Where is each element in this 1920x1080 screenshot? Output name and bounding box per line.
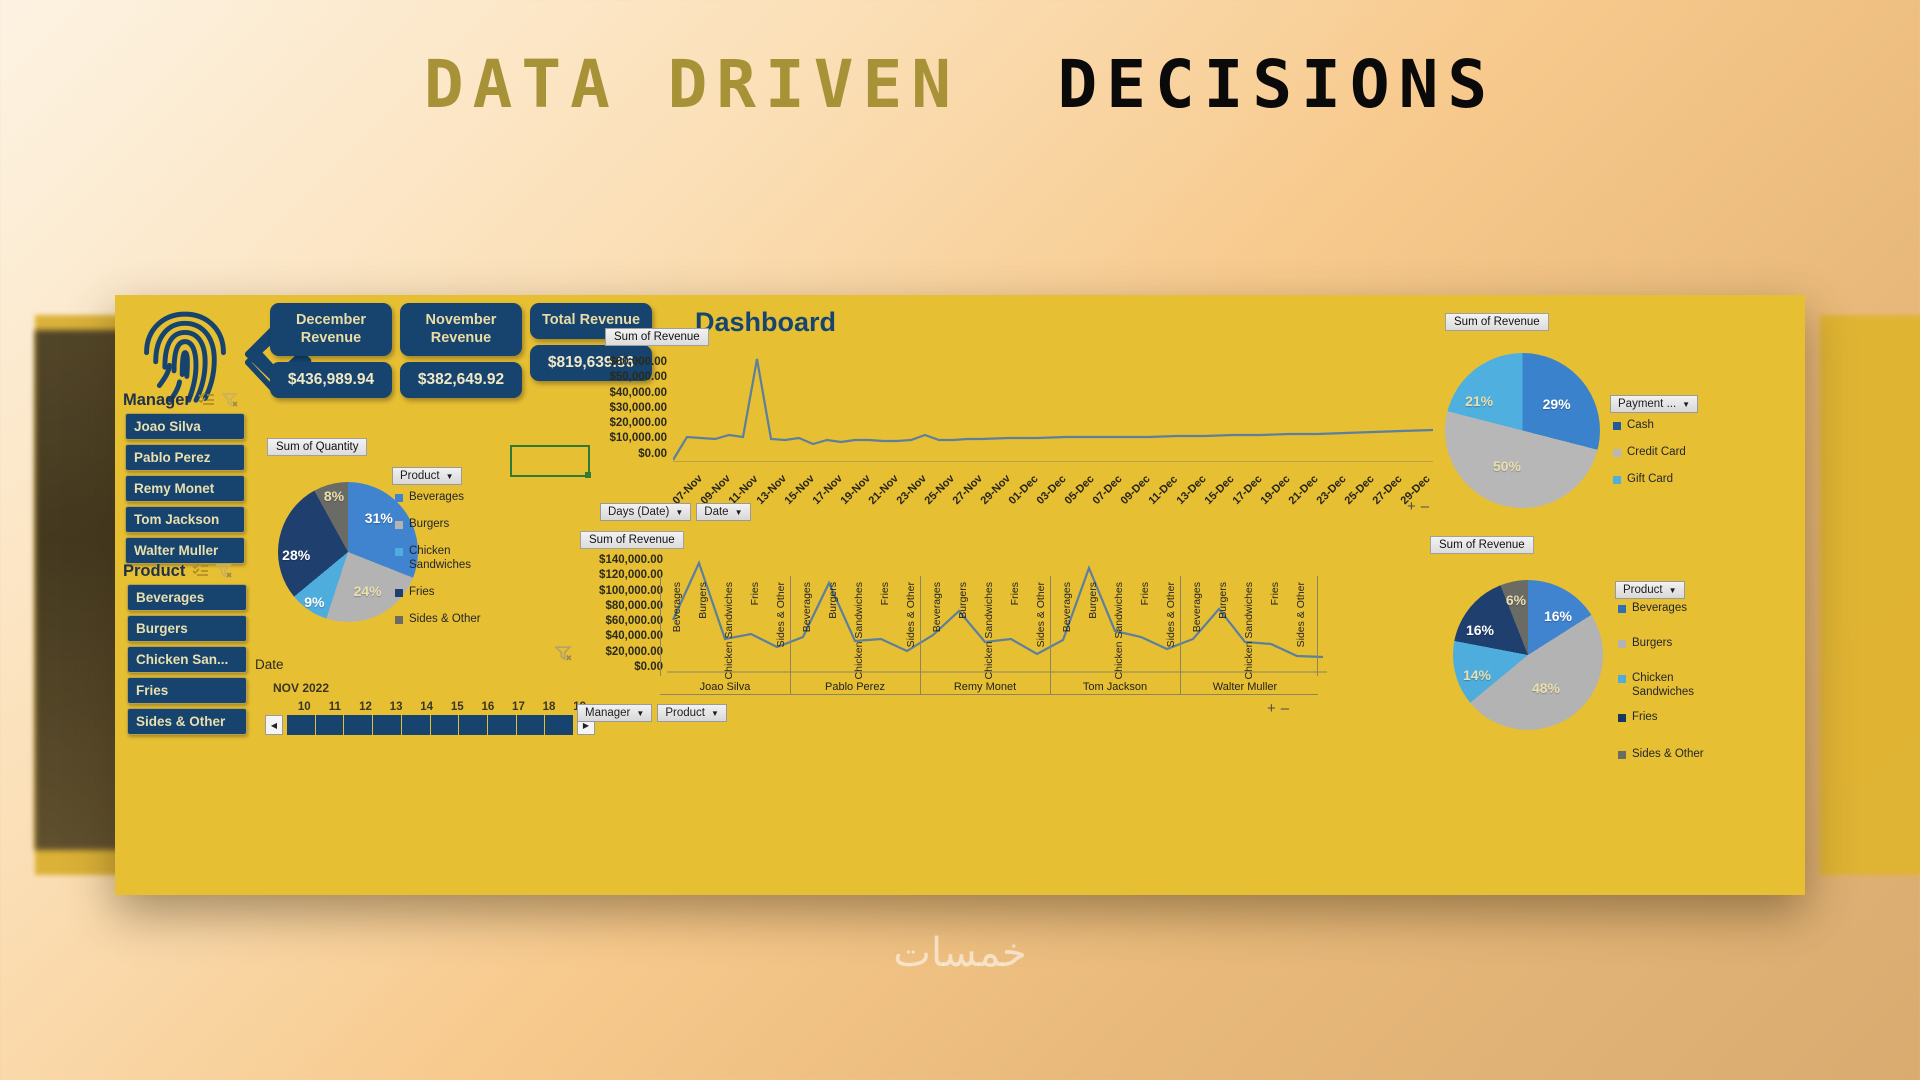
field-button-days-date[interactable]: Days (Date) ▼ [600, 503, 691, 521]
pie-slice-label: 31% [365, 510, 393, 526]
legend-label: Chicken Sandwiches [409, 545, 515, 571]
group-label: Remy Monet [920, 681, 1050, 693]
x-tick: 15-Dec [1203, 473, 1237, 507]
category-label: Fries [749, 582, 761, 605]
x-tick: 17-Nov [811, 473, 845, 507]
category-label: Fries [1009, 582, 1021, 605]
x-tick: 11-Dec [1147, 473, 1181, 507]
slicer-title-label: Manager [123, 391, 191, 410]
pie-slice-label: 14% [1463, 667, 1491, 683]
slicer-item-remy-monet[interactable]: Remy Monet [125, 475, 245, 502]
legend-label: Credit Card [1627, 446, 1686, 459]
timeline-bar[interactable] [488, 715, 516, 735]
y-tick: $0.00 [585, 447, 667, 462]
x-tick: 29-Nov [979, 473, 1013, 507]
group-separator [1050, 576, 1051, 694]
collapse-button[interactable]: – [1281, 700, 1294, 717]
top-line-chart-plot[interactable] [673, 357, 1433, 462]
legend-field-label: Payment ... [1618, 398, 1676, 410]
collapse-button[interactable]: – [1421, 498, 1434, 515]
pie-slice-label: 21% [1465, 393, 1493, 409]
x-tick: 03-Dec [1035, 473, 1069, 507]
timeline-slicer[interactable]: 10 11 12 13 14 15 16 17 18 19 ◀ [265, 701, 595, 735]
category-label: Beverages [931, 582, 943, 632]
x-tick: 11-Nov [727, 473, 761, 507]
y-tick: $20,000.00 [585, 416, 667, 431]
pie-slice-label: 6% [1506, 592, 1526, 608]
pie-slice-label: 16% [1544, 608, 1572, 624]
legend-label: Burgers [1632, 637, 1672, 650]
legend-item: Burgers [395, 518, 515, 531]
slicer-item-chicken[interactable]: Chicken San... [127, 646, 247, 673]
y-tick: $40,000.00 [585, 386, 667, 401]
chevron-down-icon[interactable]: ▼ [1682, 400, 1690, 409]
timeline-prev-arrow-icon[interactable]: ◀ [265, 715, 283, 735]
legend-item: Credit Card [1613, 446, 1723, 459]
kpi-label: November Revenue [400, 303, 522, 356]
legend-label: Cash [1627, 419, 1654, 432]
legend-label: Fries [1632, 711, 1658, 724]
x-tick: 13-Nov [755, 473, 789, 507]
legend-field-label: Product [1623, 584, 1663, 596]
legend-item: Fries [395, 586, 515, 599]
field-label: Date [704, 506, 728, 518]
x-tick: 21-Dec [1287, 473, 1321, 507]
pivot-chip-sum-of-revenue-payment[interactable]: Sum of Revenue [1445, 313, 1549, 331]
category-label: Sides & Other [1035, 582, 1047, 647]
timeline-period: NOV 2022 [273, 681, 329, 695]
group-separator [790, 576, 791, 694]
legend-label: Chicken Sandwiches [1632, 672, 1736, 698]
legend-swatch [1618, 714, 1626, 722]
timeline-bar[interactable] [545, 715, 573, 735]
legend-swatch [395, 616, 403, 624]
pie-slice-label: 48% [1532, 680, 1560, 696]
x-tick: 13-Dec [1175, 473, 1209, 507]
legend-label: Burgers [409, 518, 449, 531]
dashboard-heading: Dashboard [695, 307, 836, 338]
legend-label: Sides & Other [409, 613, 481, 626]
timeline-bar[interactable] [402, 715, 430, 735]
pie-slice-label: 8% [324, 488, 344, 504]
legend-item: Cash [1613, 419, 1723, 432]
x-tick: 19-Nov [839, 473, 873, 507]
x-tick: 01-Dec [1007, 473, 1041, 507]
x-tick: 09-Dec [1119, 473, 1153, 507]
group-label: Pablo Perez [790, 681, 920, 693]
bottom-chart-expand-collapse[interactable]: +– [1267, 700, 1294, 717]
kpi-label: December Revenue [270, 303, 392, 356]
pie-slice-label: 9% [304, 594, 324, 610]
timeline-day-label: 17 [503, 701, 534, 713]
group-separator [1180, 576, 1181, 694]
timeline-day-label: 18 [534, 701, 565, 713]
timeline-day-label: 11 [320, 701, 351, 713]
pivot-chip-sum-of-revenue-bottom[interactable]: Sum of Revenue [580, 531, 684, 549]
category-label: Fries [879, 582, 891, 605]
pie-slice-label: 16% [1466, 622, 1494, 638]
slicer-list-product[interactable]: Beverages Burgers Chicken San... Fries S… [127, 584, 247, 735]
slicer-header-product: Product [123, 562, 233, 581]
y-tick: $40,000.00 [565, 629, 663, 644]
slicer-item-joao-silva[interactable]: Joao Silva [125, 413, 245, 440]
chevron-down-icon[interactable]: ▼ [675, 508, 683, 517]
slicer-item-burgers[interactable]: Burgers [127, 615, 247, 642]
y-tick: $120,000.00 [565, 568, 663, 583]
slicer-item-pablo-perez[interactable]: Pablo Perez [125, 444, 245, 471]
field-button-manager[interactable]: Manager ▼ [577, 704, 652, 722]
y-tick: $140,000.00 [565, 553, 663, 568]
timeline-day-label: 15 [442, 701, 473, 713]
legend-label: Sides & Other [1632, 748, 1704, 761]
legend-swatch [1613, 476, 1621, 484]
slicer-item-tom-jackson[interactable]: Tom Jackson [125, 506, 245, 533]
x-tick: 07-Dec [1091, 473, 1125, 507]
field-label: Manager [585, 707, 630, 719]
y-tick: $0.00 [565, 660, 663, 675]
pie-slice-label: 28% [282, 547, 310, 563]
legend-swatch [1613, 449, 1621, 457]
timeline-day-label: 10 [289, 701, 320, 713]
group-separator [920, 576, 921, 694]
field-button-product-bottom[interactable]: Product ▼ [657, 704, 727, 722]
timeline-day-label: 14 [411, 701, 442, 713]
legend-item: Fries [1618, 711, 1736, 724]
dashboard-sheet: December Revenue $436,989.94 November Re… [115, 295, 1805, 895]
legend-label: Beverages [1632, 602, 1687, 615]
x-tick: 07-Nov [671, 473, 705, 507]
pie-slice-label: 50% [1493, 458, 1521, 474]
pie-slice-label: 24% [354, 583, 382, 599]
clear-filter-icon[interactable] [216, 563, 233, 581]
kpi-value: $382,649.92 [400, 362, 522, 398]
timeline-bar[interactable] [373, 715, 401, 735]
timeline-day-label: 13 [381, 701, 412, 713]
category-label: Beverages [801, 582, 813, 632]
slicer-list-manager[interactable]: Joao Silva Pablo Perez Remy Monet Tom Ja… [125, 413, 245, 564]
pivot-chip-sum-of-revenue-top[interactable]: Sum of Revenue [605, 328, 709, 346]
payment-pie-chart[interactable]: 29% 50% 21% [1445, 353, 1600, 508]
y-tick: $100,000.00 [565, 584, 663, 599]
timeline-bar[interactable] [459, 715, 487, 735]
category-label: Chicken Sandwiches [723, 582, 735, 679]
timeline-day-label: 12 [350, 701, 381, 713]
legend-swatch [1613, 422, 1621, 430]
kpi-value: $436,989.94 [270, 362, 392, 398]
chevron-down-icon[interactable]: ▼ [446, 472, 454, 481]
legend-label: Beverages [409, 491, 464, 504]
watermark: خمسات [0, 930, 1920, 976]
x-tick: 21-Nov [867, 473, 901, 507]
category-label: Fries [1139, 582, 1151, 605]
y-tick: $30,000.00 [585, 401, 667, 416]
y-tick: $20,000.00 [565, 645, 663, 660]
page-title: DATA DRIVEN DECISIONS [0, 46, 1920, 123]
title-part-2: DECISIONS [1057, 46, 1496, 123]
chevron-down-icon[interactable]: ▼ [735, 508, 743, 517]
title-part-1: DATA DRIVEN [424, 46, 960, 123]
category-label: Sides & Other [1165, 582, 1177, 647]
expand-button[interactable]: + [1267, 700, 1281, 717]
kpi-card-december[interactable]: December Revenue $436,989.94 [270, 303, 392, 398]
y-tick: $10,000.00 [585, 431, 667, 446]
quantity-pie-legend: Beverages Burgers Chicken Sandwiches Fri… [395, 491, 515, 640]
x-tick: 27-Dec [1371, 473, 1405, 507]
chevron-down-icon[interactable]: ▼ [636, 709, 644, 718]
legend-swatch [1618, 640, 1626, 648]
group-axis-line [660, 694, 1318, 695]
x-tick: 15-Nov [783, 473, 817, 507]
field-button-date[interactable]: Date ▼ [696, 503, 750, 521]
slicer-header-manager: Manager [123, 391, 239, 410]
legend-swatch [395, 521, 403, 529]
legend-field-button-product[interactable]: Product ▼ [392, 467, 462, 485]
x-tick: 27-Nov [951, 473, 985, 507]
selected-cell[interactable] [510, 445, 590, 477]
timeline-bar[interactable] [316, 715, 344, 735]
category-label: Chicken Sandwiches [983, 582, 995, 679]
category-label: Burgers [957, 582, 969, 619]
group-label: Tom Jackson [1050, 681, 1180, 693]
timeline-label: Date [255, 657, 284, 672]
y-tick: $50,000.00 [585, 370, 667, 385]
timeline-day-label: 16 [473, 701, 504, 713]
group-label: Walter Muller [1180, 681, 1310, 693]
legend-swatch [395, 548, 403, 556]
slicer-item-sides-other[interactable]: Sides & Other [127, 708, 247, 735]
top-chart-y-axis: $60,000.00 $50,000.00 $40,000.00 $30,000… [585, 355, 667, 462]
field-label: Product [665, 707, 705, 719]
x-tick: 19-Dec [1259, 473, 1293, 507]
category-label: Fries [1269, 582, 1281, 605]
slicer-title-label: Product [123, 562, 185, 581]
legend-label: Fries [409, 586, 435, 599]
slicer-item-beverages[interactable]: Beverages [127, 584, 247, 611]
backdrop-panel-right [1820, 315, 1920, 875]
field-label: Days (Date) [608, 506, 669, 518]
top-chart-field-buttons[interactable]: Days (Date) ▼ Date ▼ [600, 503, 751, 521]
pivot-chip-sum-of-quantity[interactable]: Sum of Quantity [267, 438, 367, 456]
legend-swatch [1618, 751, 1626, 759]
legend-item: Gift Card [1613, 473, 1723, 486]
product-revenue-pie-chart[interactable]: 16% 48% 14% 16% 6% [1453, 580, 1603, 730]
x-tick: 25-Dec [1343, 473, 1377, 507]
bottom-chart-y-axis: $140,000.00 $120,000.00 $100,000.00 $80,… [565, 553, 663, 675]
category-label: Burgers [697, 582, 709, 619]
category-label: Beverages [671, 582, 683, 632]
y-tick: $60,000.00 [585, 355, 667, 370]
chevron-down-icon[interactable]: ▼ [1669, 586, 1677, 595]
timeline-day-labels: 10 11 12 13 14 15 16 17 18 19 [265, 701, 595, 713]
legend-item: Beverages [1618, 602, 1736, 615]
pie-slice-label: 29% [1543, 396, 1571, 412]
legend-swatch [395, 494, 403, 502]
pivot-chip-sum-of-revenue-product[interactable]: Sum of Revenue [1430, 536, 1534, 554]
kpi-card-november[interactable]: November Revenue $382,649.92 [400, 303, 522, 398]
category-label: Chicken Sandwiches [1243, 582, 1255, 679]
category-label: Sides & Other [905, 582, 917, 647]
chevron-down-icon[interactable]: ▼ [711, 709, 719, 718]
payment-pie-legend: Cash Credit Card Gift Card [1613, 419, 1723, 501]
legend-field-button-payment[interactable]: Payment ... ▼ [1610, 395, 1698, 413]
x-tick: 25-Nov [923, 473, 957, 507]
slicer-item-walter-muller[interactable]: Walter Muller [125, 537, 245, 564]
multi-select-icon[interactable] [198, 392, 215, 409]
expand-button[interactable]: + [1407, 498, 1421, 515]
group-label: Joao Silva [660, 681, 790, 693]
legend-item: Sides & Other [395, 613, 515, 626]
legend-item: Beverages [395, 491, 515, 504]
x-tick: 17-Dec [1231, 473, 1265, 507]
y-tick: $80,000.00 [565, 599, 663, 614]
legend-swatch [395, 589, 403, 597]
top-chart-expand-collapse[interactable]: +– [1407, 498, 1434, 515]
category-label: Sides & Other [1295, 582, 1307, 647]
category-label: Burgers [1217, 582, 1229, 619]
category-label: Beverages [1191, 582, 1203, 632]
legend-swatch [1618, 605, 1626, 613]
x-tick: 23-Nov [895, 473, 929, 507]
category-label: Burgers [1087, 582, 1099, 619]
timeline-bars[interactable] [287, 715, 573, 735]
legend-swatch [1618, 675, 1626, 683]
legend-item: Chicken Sandwiches [1618, 672, 1736, 698]
category-label: Burgers [827, 582, 839, 619]
timeline-bar[interactable] [287, 715, 315, 735]
category-label: Chicken Sandwiches [853, 582, 865, 679]
timeline-bar[interactable] [517, 715, 545, 735]
x-tick: 09-Nov [699, 473, 733, 507]
legend-item: Sides & Other [1618, 748, 1736, 761]
slicer-item-fries[interactable]: Fries [127, 677, 247, 704]
legend-item: Burgers [1618, 637, 1736, 650]
bottom-chart-field-buttons[interactable]: Manager ▼ Product ▼ [577, 704, 727, 722]
legend-field-label: Product [400, 470, 440, 482]
category-label: Beverages [1061, 582, 1073, 632]
legend-item: Chicken Sandwiches [395, 545, 515, 571]
y-tick: $60,000.00 [565, 614, 663, 629]
legend-field-button-product-bottom[interactable]: Product ▼ [1615, 581, 1685, 599]
category-label: Sides & Other [775, 582, 787, 647]
timeline-bar[interactable] [431, 715, 459, 735]
legend-label: Gift Card [1627, 473, 1673, 486]
product-revenue-pie-legend: Beverages Burgers Chicken Sandwiches Fri… [1618, 602, 1736, 775]
multi-select-icon[interactable] [192, 563, 209, 580]
timeline-bar[interactable] [344, 715, 372, 735]
category-label: Chicken Sandwiches [1113, 582, 1125, 679]
x-tick: 23-Dec [1315, 473, 1349, 507]
x-tick: 05-Dec [1063, 473, 1097, 507]
clear-filter-icon[interactable] [222, 392, 239, 410]
clear-filter-icon[interactable] [555, 645, 573, 666]
